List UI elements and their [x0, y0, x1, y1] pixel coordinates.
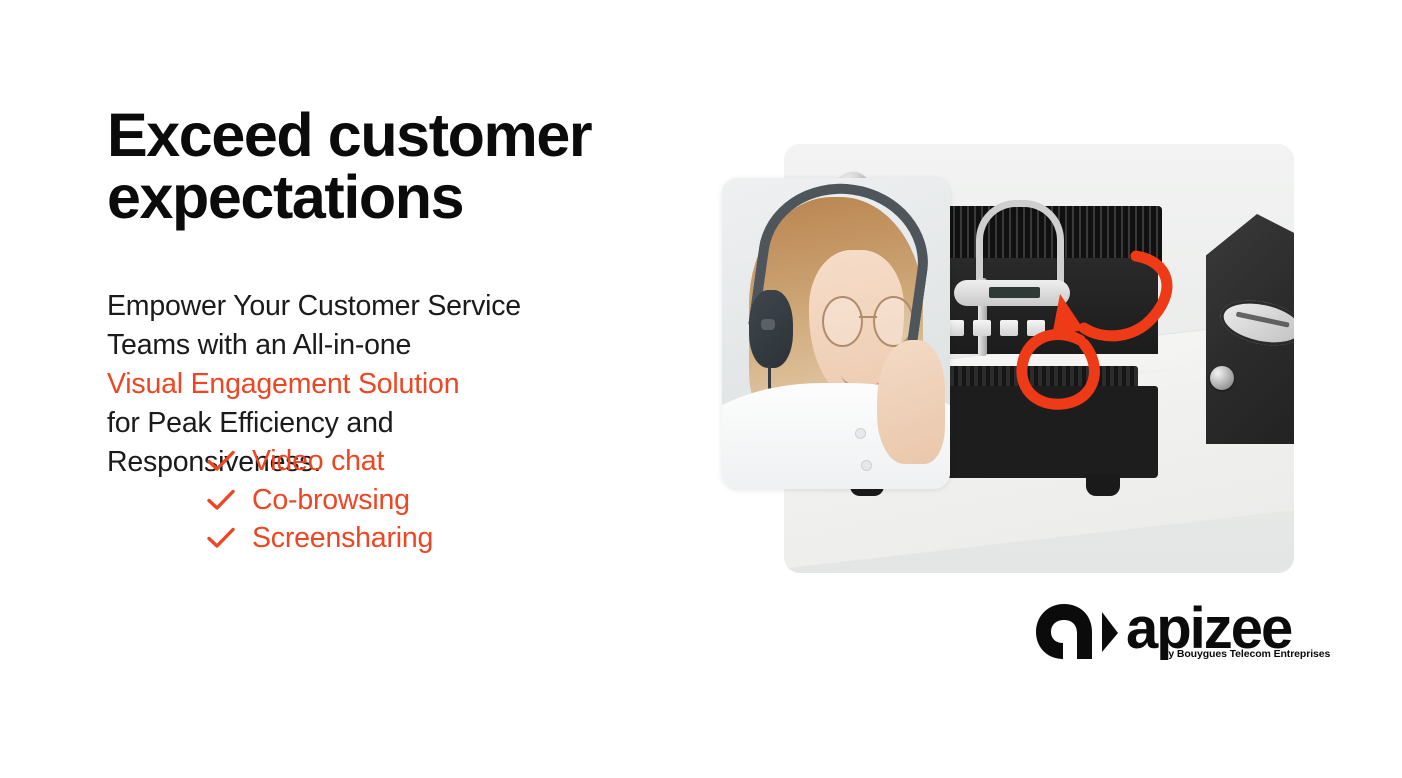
feature-list: Video chat Co-browsing Screensharing [202, 442, 433, 558]
media-composite [720, 142, 1296, 574]
control-button [973, 320, 991, 336]
machine-foot [1086, 474, 1120, 496]
list-item-label: Screensharing [252, 519, 433, 558]
control-button [1000, 320, 1018, 336]
headset-earcup [749, 290, 792, 368]
list-item: Video chat [202, 442, 433, 481]
check-icon [202, 526, 252, 550]
control-display [954, 280, 1070, 306]
marketing-slide: Exceed customer expectations Empower You… [0, 0, 1402, 778]
list-item: Screensharing [202, 519, 433, 558]
body-line-3-accent: Visual Engagement Solution [107, 365, 627, 404]
brand-logo: apizee by Bouygues Telecom Entreprises [1034, 602, 1296, 664]
body-line-2: Teams with an All-in-one [107, 326, 627, 365]
logo-tagline: by Bouygues Telecom Entreprises [1162, 648, 1330, 660]
machine-knob [1210, 366, 1234, 390]
check-icon [202, 449, 252, 473]
agent-hand [877, 340, 945, 464]
text-column: Exceed customer expectations Empower You… [107, 104, 667, 228]
body-line-1: Empower Your Customer Service [107, 287, 627, 326]
agent-video-thumbnail [722, 178, 950, 489]
control-button [1027, 320, 1045, 336]
control-buttons [946, 320, 1074, 336]
list-item-label: Video chat [252, 442, 384, 481]
body-line-4: for Peak Efficiency and [107, 404, 627, 443]
list-item: Co-browsing [202, 481, 433, 520]
list-item-label: Co-browsing [252, 481, 410, 520]
page-title: Exceed customer expectations [107, 104, 667, 228]
apizee-logo-mark [1034, 602, 1120, 660]
check-icon [202, 488, 252, 512]
